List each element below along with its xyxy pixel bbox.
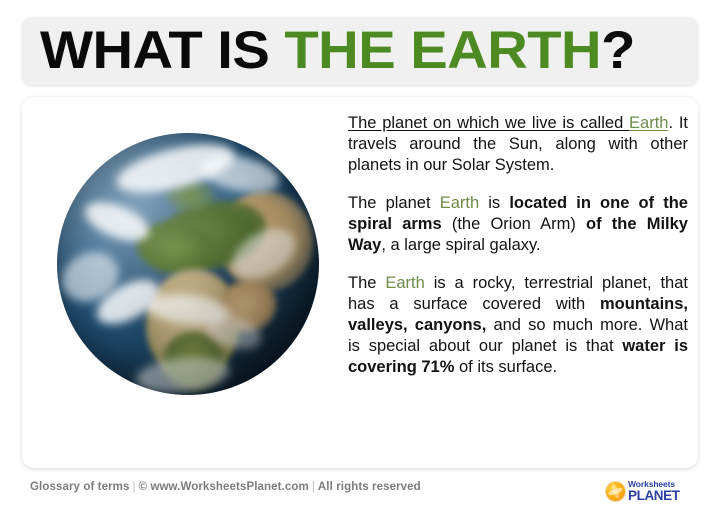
title-part-green: THE EARTH [284,21,601,80]
worksheet-page: WHAT IS THE EARTH? [0,0,720,509]
footer: Glossary of terms|© www.WorksheetsPlanet… [0,476,720,509]
title-part-black: WHAT IS [40,21,284,80]
logo-bottom-word: PLANET [628,489,680,503]
content-card: The planet on which we live is called Ea… [22,97,698,468]
paragraph-location: The planet Earth is located in one of th… [348,193,688,256]
definition-green-word: Earth [629,114,668,132]
page-title: WHAT IS THE EARTH? [40,24,635,78]
globe-shading [57,133,319,395]
location-seg3: (the Orion Arm) [442,215,586,233]
paragraph-composition: The Earth is a rocky, terrestrial planet… [348,273,688,378]
paragraph-definition: The planet on which we live is called Ea… [348,113,688,176]
earth-illustration [32,111,332,451]
footer-separator-1: | [130,481,139,493]
worksheets-planet-logo[interactable]: Worksheets PLANET [606,478,706,504]
earth-globe-image [57,133,319,395]
composition-seg4: of its surface. [454,358,557,376]
location-seg4: , a large spiral galaxy. [381,236,540,254]
composition-seg1: The [348,274,385,292]
definition-text-column: The planet on which we live is called Ea… [348,113,688,378]
title-card: WHAT IS THE EARTH? [22,17,698,85]
footer-copyright[interactable]: © www.WorksheetsPlanet.com [139,481,309,493]
globe-logo-icon [606,482,625,501]
location-seg1: The planet [348,194,440,212]
title-question-mark: ? [601,21,635,80]
location-seg2: is [479,194,509,212]
footer-rights: All rights reserved [318,481,421,493]
location-green-word: Earth [440,194,479,212]
footer-credits: Glossary of terms|© www.WorksheetsPlanet… [30,481,421,493]
composition-green-word: Earth [385,274,424,292]
footer-separator-2: | [309,481,318,493]
definition-lead: The planet on which we live is called [348,114,629,132]
footer-glossary-link[interactable]: Glossary of terms [30,481,130,493]
logo-wordmark: Worksheets PLANET [628,480,680,503]
logo-top-word: Worksheets [628,480,680,489]
